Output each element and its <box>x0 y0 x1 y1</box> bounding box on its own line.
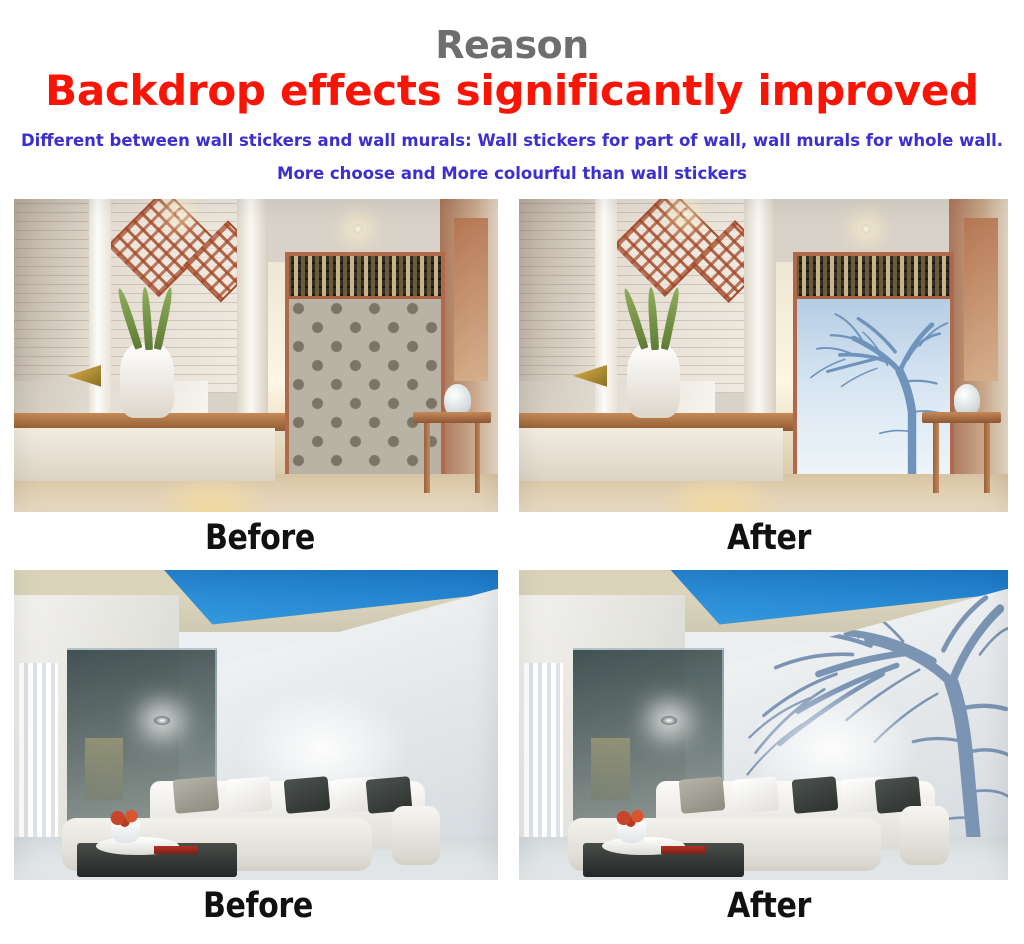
cushion <box>791 776 838 814</box>
right-wood-panel <box>454 218 488 381</box>
caption-lounge-before: Before <box>203 889 313 924</box>
radiator <box>19 663 58 849</box>
window-reflection <box>591 738 630 801</box>
caption-hallway-before: Before <box>205 521 315 556</box>
hallway-scene-after <box>519 199 1008 512</box>
console-leg <box>984 423 989 493</box>
caption-hallway-after: After <box>727 521 811 556</box>
cushion <box>733 776 780 814</box>
bench-body <box>14 428 275 481</box>
carved-grille <box>797 256 950 299</box>
flowers <box>106 809 145 828</box>
console-top <box>922 412 1000 423</box>
bench-body <box>519 428 783 481</box>
console-table <box>413 412 490 493</box>
red-book <box>154 846 198 854</box>
carved-grille <box>289 256 441 299</box>
window-reflection <box>85 738 123 801</box>
cushion <box>172 776 218 814</box>
lounge-scene-after <box>519 570 1008 880</box>
white-column <box>89 199 111 424</box>
ceiling-light <box>353 224 363 234</box>
plant-pot <box>120 343 173 418</box>
right-wood-panel <box>964 218 998 381</box>
ceiling-light <box>861 224 871 234</box>
caption-lounge-after: After <box>727 889 811 924</box>
red-book <box>661 846 705 854</box>
promo-banner: Reason Backdrop effects significantly im… <box>0 0 1024 944</box>
white-column <box>595 199 617 424</box>
page-title: Backdrop effects significantly improved <box>0 68 1024 113</box>
plant-leaves <box>631 287 690 350</box>
subtitle-line-2: More choose and More colourful than wall… <box>0 164 1024 183</box>
sofa-arm <box>392 806 440 865</box>
photo-hallway-before <box>14 199 498 512</box>
downlight <box>154 716 170 725</box>
photo-lounge-after <box>519 570 1008 880</box>
lounge-scene-before <box>14 570 498 880</box>
console-top <box>413 412 490 423</box>
cushion <box>284 776 330 814</box>
downlight <box>661 716 677 725</box>
console-table <box>922 412 1000 493</box>
console-leg <box>933 423 938 493</box>
flowers <box>612 809 651 828</box>
plant-leaves <box>125 287 183 350</box>
eyebrow-heading: Reason <box>0 26 1024 64</box>
cushion <box>226 776 272 814</box>
console-leg <box>424 423 429 493</box>
photo-lounge-before <box>14 570 498 880</box>
console-leg <box>475 423 480 493</box>
plant-pot <box>627 343 681 418</box>
hallway-scene-before <box>14 199 498 512</box>
sofa-arm <box>900 806 949 865</box>
radiator <box>524 663 563 849</box>
cushion <box>679 776 726 814</box>
photo-hallway-after <box>519 199 1008 512</box>
subtitle-line-1: Different between wall stickers and wall… <box>0 131 1024 150</box>
